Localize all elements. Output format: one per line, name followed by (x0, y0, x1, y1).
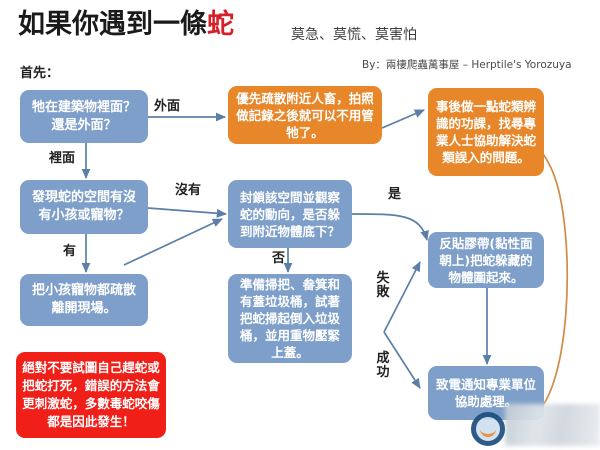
edge-label-outside: 外面 (154, 100, 180, 114)
start-label: 首先： (20, 62, 59, 81)
node-evacuate[interactable]: 把小孩寵物都疏散離開現場。 (20, 274, 148, 326)
node-q-hiding[interactable]: 封鎖該空間並觀察蛇的動向，是否躲到附近物體底下？ (228, 180, 352, 248)
node-outside-action[interactable]: 優先疏散附近人畜，拍照做記錄之後就可以不用管牠了。 (228, 86, 382, 144)
page-title-highlight: 蛇 (207, 9, 234, 40)
byline: By：兩棲爬蟲萬事屋 – Herptile's Yorozuya (362, 57, 572, 72)
edge-label-none: 沒有 (175, 184, 201, 198)
node-q-hiding-text: 封鎖該空間並觀察蛇的動向，是否躲到附近物體底下？ (234, 189, 346, 240)
flowchart-page: 如果你遇到一條蛇 莫急、莫慌、莫害怕 By：兩棲爬蟲萬事屋 – Herptile… (0, 0, 600, 450)
node-q-kids-pets-text: 發現蛇的空間有沒有小孩或寵物？ (26, 189, 142, 225)
edge-yes (352, 214, 427, 240)
edge-outside-to-aftercare (382, 110, 424, 128)
herptile-circle-logo-icon (471, 412, 505, 446)
edge-label-yes: 是 (388, 188, 401, 202)
node-sweep-bin[interactable]: 準備掃把、畚箕和有蓋垃圾桶，試著把蛇掃起倒入垃圾桶，並用重物壓緊上蓋。 (228, 274, 352, 363)
page-subtitle: 莫急、莫慌、莫害怕 (291, 24, 417, 44)
node-warning[interactable]: 絕對不要試圖自己趕蛇或把蛇打死，錯誤的方法會更刺激蛇，多數毒蛇咬傷都是因此發生！ (16, 352, 166, 438)
page-title: 如果你遇到一條蛇 (18, 10, 234, 40)
node-sweep-bin-text: 準備掃把、畚箕和有蓋垃圾桶，試著把蛇掃起倒入垃圾桶，並用重物壓緊上蓋。 (234, 276, 346, 361)
node-q-kids-pets[interactable]: 發現蛇的空間有沒有小孩或寵物？ (20, 180, 148, 234)
edge-none (148, 208, 226, 214)
blurred-watermark-region (505, 404, 600, 446)
node-tape-trap[interactable]: 反貼膠帶(黏性面朝上)把蛇躲藏的物體圍起來。 (428, 232, 544, 288)
edge-label-success: 成功 (376, 352, 390, 380)
node-aftercare-text: 事後做一點蛇類辨識的功課，找尋專業人士協助解決蛇類誤入的問題。 (434, 98, 538, 166)
page-title-main: 如果你遇到一條 (18, 9, 207, 40)
node-q-location[interactable]: 牠在建築物裡面？還是外面？ (20, 90, 148, 143)
node-q-location-text: 牠在建築物裡面？還是外面？ (26, 99, 142, 135)
node-tape-trap-text: 反貼膠帶(黏性面朝上)把蛇躲藏的物體圍起來。 (434, 235, 538, 286)
node-aftercare[interactable]: 事後做一點蛇類辨識的功課，找尋專業人士協助解決蛇類誤入的問題。 (428, 88, 544, 176)
edge-label-inside: 裡面 (49, 152, 75, 166)
edge-label-fail: 失敗 (376, 272, 390, 300)
node-evacuate-text: 把小孩寵物都疏散離開現場。 (26, 282, 142, 318)
edge-label-no: 否 (272, 252, 285, 266)
node-outside-action-text: 優先疏散附近人畜，拍照做記錄之後就可以不用管牠了。 (234, 90, 376, 141)
edge-label-have: 有 (63, 245, 76, 259)
node-warning-text: 絕對不要試圖自己趕蛇或把蛇打死，錯誤的方法會更刺激蛇，多數毒蛇咬傷都是因此發生！ (22, 359, 160, 431)
